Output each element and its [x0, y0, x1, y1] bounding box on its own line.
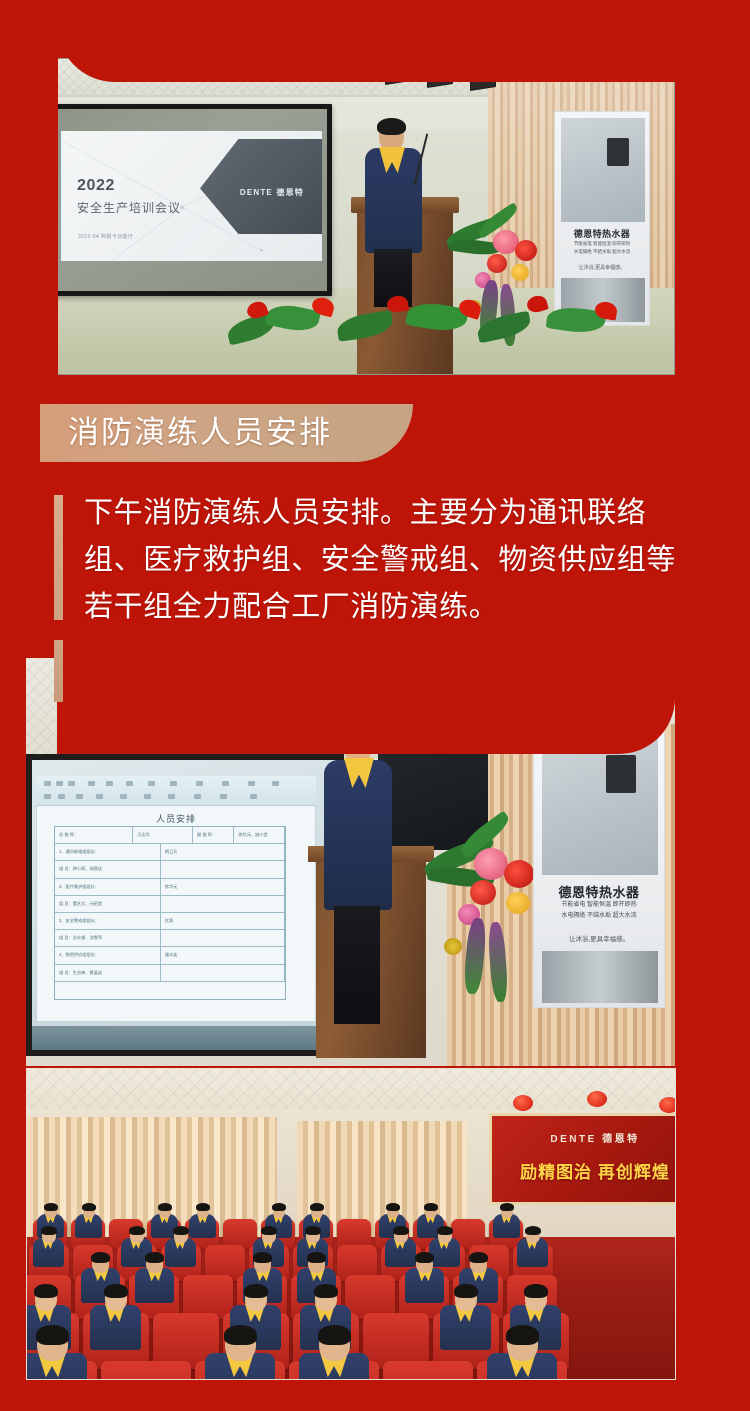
audience-hair — [36, 1325, 69, 1345]
red-fill-above-photo2 — [0, 620, 750, 658]
table-cell — [161, 896, 285, 912]
table-cell: 1、通讯联络组组长： — [55, 844, 161, 860]
document-title: 人员安排 — [36, 812, 316, 825]
standee2-photo-strip — [542, 951, 658, 1003]
photo3-lantern-3 — [659, 1097, 676, 1113]
table-row: 组 员：钟小荷、胡燕佳 — [55, 861, 285, 878]
audience-hair — [386, 1203, 400, 1211]
audience-hair — [415, 1252, 434, 1263]
audience-hair — [173, 1226, 189, 1235]
audience-hair — [244, 1284, 268, 1298]
standee-water-heater-unit — [607, 138, 629, 166]
table-row: 总 指 挥：汪志华副 指 挥：徐华元、姚小堂 — [55, 827, 285, 844]
audience-hair — [314, 1284, 338, 1298]
audience-hair — [393, 1226, 409, 1235]
standee2-features-line1: 节能省电 智能恒温 即开即热 — [534, 900, 664, 911]
audience-member — [90, 1284, 141, 1354]
table-row: 组 员：董艺文、元招堂 — [55, 896, 285, 913]
document-table: 总 指 挥：汪志华副 指 挥：徐华元、姚小堂1、通讯联络组组长：胡卫兵组 员：钟… — [54, 826, 286, 1000]
photo2-projection-screen-frame: 人员安排 总 指 挥：汪志华副 指 挥：徐华元、姚小堂1、通讯联络组组长：胡卫兵… — [26, 754, 344, 1056]
audience-member — [205, 1325, 275, 1380]
standee-features-line2: 水电隔绝 不结水垢 超大水流 — [555, 248, 649, 256]
photo1-speaker-person — [365, 121, 423, 306]
document-ribbon — [36, 776, 316, 806]
standee-bathroom-image — [561, 118, 645, 222]
table-cell: 组 员：董艺文、元招堂 — [55, 896, 161, 912]
audience-hair — [224, 1325, 257, 1345]
table-cell — [161, 930, 285, 946]
table-row: 组 员：生治神、黄晶送 — [55, 965, 285, 982]
photo2-speaker-person — [322, 724, 394, 1024]
standee-title: 德恩特热水器 — [555, 227, 649, 240]
photo2-product-standee: 德恩特热水器 节能省电 智能恒温 即开即热 水电隔绝 不结水垢 超大水流 让沐浴… — [533, 718, 665, 1008]
slide-year: 2022 — [77, 177, 115, 195]
standee2-slogan: 让沐浴,更具幸福感。 — [534, 933, 664, 943]
table-cell: 3、安全警戒组组长： — [55, 913, 161, 929]
table-cell: 2、医疗救护组组长： — [55, 879, 161, 895]
standee2-title: 德恩特热水器 — [534, 882, 664, 901]
audience-hair — [91, 1252, 110, 1263]
audience-hair — [318, 1325, 351, 1345]
auditorium-seat — [383, 1361, 473, 1380]
audience-member — [405, 1252, 444, 1306]
table-cell: 徐华元 — [161, 879, 285, 895]
red-corner-overlay-top — [57, 0, 750, 82]
table-cell: 组 员：生治神、黄晶送 — [55, 965, 161, 981]
table-cell: 总 指 挥： — [55, 827, 133, 843]
photo1-projection-screen: 2022 安全生产培训会议 2022-04 阿姆卡功能厅 DENTE 德恩特 — [54, 109, 327, 291]
standee2-water-heater-unit — [606, 755, 636, 793]
audience-hair — [261, 1226, 277, 1235]
audience-hair — [129, 1226, 145, 1235]
photo-conference-speaker: 2022 安全生产培训会议 2022-04 阿姆卡功能厅 DENTE 德恩特 — [26, 58, 675, 375]
standee-features-line1: 节能省电 智能恒温 即开即热 — [555, 240, 649, 248]
table-row: 3、安全警戒组组长：伏青 — [55, 913, 285, 930]
speaker-hair — [377, 118, 406, 135]
photo1-product-standee: 德恩特热水器 节能省电 智能恒温 即开即热 水电隔绝 不结水垢 超大水流 让沐浴… — [554, 111, 650, 326]
table-cell — [161, 861, 285, 877]
audience-hair — [272, 1203, 286, 1211]
audience-hair — [437, 1226, 453, 1235]
table-cell: 汪志华 — [133, 827, 193, 843]
audience-member — [26, 1325, 87, 1380]
photo2-document: 人员安排 总 指 挥：汪志华副 指 挥：徐华元、姚小堂1、通讯联络组组长：胡卫兵… — [36, 776, 316, 1022]
audience-hair — [310, 1203, 324, 1211]
audience-hair — [500, 1203, 514, 1211]
audience-hair — [82, 1203, 96, 1211]
audience-hair — [524, 1284, 548, 1298]
audience-member — [487, 1325, 557, 1380]
red-strip-right — [676, 0, 750, 1411]
audience-hair — [454, 1284, 478, 1298]
audience-hair — [44, 1203, 58, 1211]
table-row: 1、通讯联络组组长：胡卫兵 — [55, 844, 285, 861]
audience-hair — [253, 1252, 272, 1263]
speaker2-jacket — [324, 760, 392, 910]
audience-hair — [525, 1226, 541, 1235]
stage-banner-slogan: 励精图治 再创辉煌 — [492, 1158, 676, 1183]
audience-hair — [305, 1226, 321, 1235]
section-title-banner: 消防演练人员安排 — [40, 404, 413, 462]
photo-audience-hall: DENTE 德恩特 励精图治 再创辉煌 — [26, 1068, 676, 1380]
standee-slogan: 让沐浴,更具幸福感。 — [555, 264, 649, 271]
accent-bar-tail — [54, 640, 63, 702]
audience-member — [493, 1203, 520, 1240]
photo3-lantern-2 — [587, 1091, 607, 1107]
photo2-taskbar — [32, 1026, 338, 1050]
section-body-text: 下午消防演练人员安排。主要分为通讯联络组、医疗救护组、安全警戒组、物资供应组等若… — [84, 489, 684, 630]
standee-features: 节能省电 智能恒温 即开即热 水电隔绝 不结水垢 超大水流 — [555, 240, 649, 255]
poster-page: 2022 安全生产培训会议 2022-04 阿姆卡功能厅 DENTE 德恩特 — [0, 0, 750, 1411]
photo3-lantern-1 — [513, 1095, 533, 1111]
audience-member — [517, 1226, 548, 1270]
photo1-slide: 2022 安全生产培训会议 2022-04 阿姆卡功能厅 DENTE 德恩特 — [61, 131, 322, 261]
audience-member — [75, 1203, 102, 1240]
slide-date: 2022-04 阿姆卡功能厅 — [78, 233, 133, 240]
speaker2-trousers — [334, 906, 380, 1024]
slide-subtitle: 安全生产培训会议 — [77, 199, 181, 216]
table-row: 2、医疗救护组组长：徐华元 — [55, 879, 285, 896]
audience-hair — [469, 1252, 488, 1263]
table-cell: 伏青 — [161, 913, 285, 929]
table-cell: 副 指 挥： — [193, 827, 234, 843]
audience-hair — [145, 1252, 164, 1263]
page-title: 消防演练人员安排 — [40, 418, 332, 449]
standee2-features-line2: 水电隔绝 不结水垢 超大水流 — [534, 911, 664, 922]
audience-hair — [158, 1203, 172, 1211]
standee2-features: 节能省电 智能恒温 即开即热 水电隔绝 不结水垢 超大水流 — [534, 900, 664, 922]
photo3-stage-banner: DENTE 德恩特 励精图治 再创辉煌 — [489, 1113, 676, 1205]
audience-hair — [34, 1284, 58, 1298]
table-row: 4、物资供应组组长：潘水连 — [55, 947, 285, 964]
table-cell: 组 员：总水根、沈雪萍 — [55, 930, 161, 946]
audience-hair — [104, 1284, 128, 1298]
table-cell — [161, 965, 285, 981]
audience-member — [299, 1325, 369, 1380]
audience-hair — [41, 1226, 57, 1235]
audience-hair — [307, 1252, 326, 1263]
audience-member — [440, 1284, 491, 1354]
audience-hair — [196, 1203, 210, 1211]
audience-hair — [424, 1203, 438, 1211]
table-cell: 组 员：钟小荷、胡燕佳 — [55, 861, 161, 877]
table-cell: 徐华元、姚小堂 — [234, 827, 285, 843]
table-cell: 潘水连 — [161, 947, 285, 963]
slide-brand: DENTE 德恩特 — [240, 187, 304, 198]
table-row: 组 员：总水根、沈雪萍 — [55, 930, 285, 947]
audience-member — [33, 1226, 64, 1270]
table-cell: 4、物资供应组组长： — [55, 947, 161, 963]
photo1-foreground-plants — [147, 296, 634, 374]
photo1-projection-screen-frame: 2022 安全生产培训会议 2022-04 阿姆卡功能厅 DENTE 德恩特 — [49, 104, 332, 296]
table-cell: 胡卫兵 — [161, 844, 285, 860]
photo2-projection-screen: 人员安排 总 指 挥：汪志华副 指 挥：徐华元、姚小堂1、通讯联络组组长：胡卫兵… — [32, 760, 338, 1050]
auditorium-seat — [101, 1361, 191, 1380]
stage-banner-brand: DENTE 德恩特 — [492, 1130, 676, 1145]
audience-hair — [506, 1325, 539, 1345]
